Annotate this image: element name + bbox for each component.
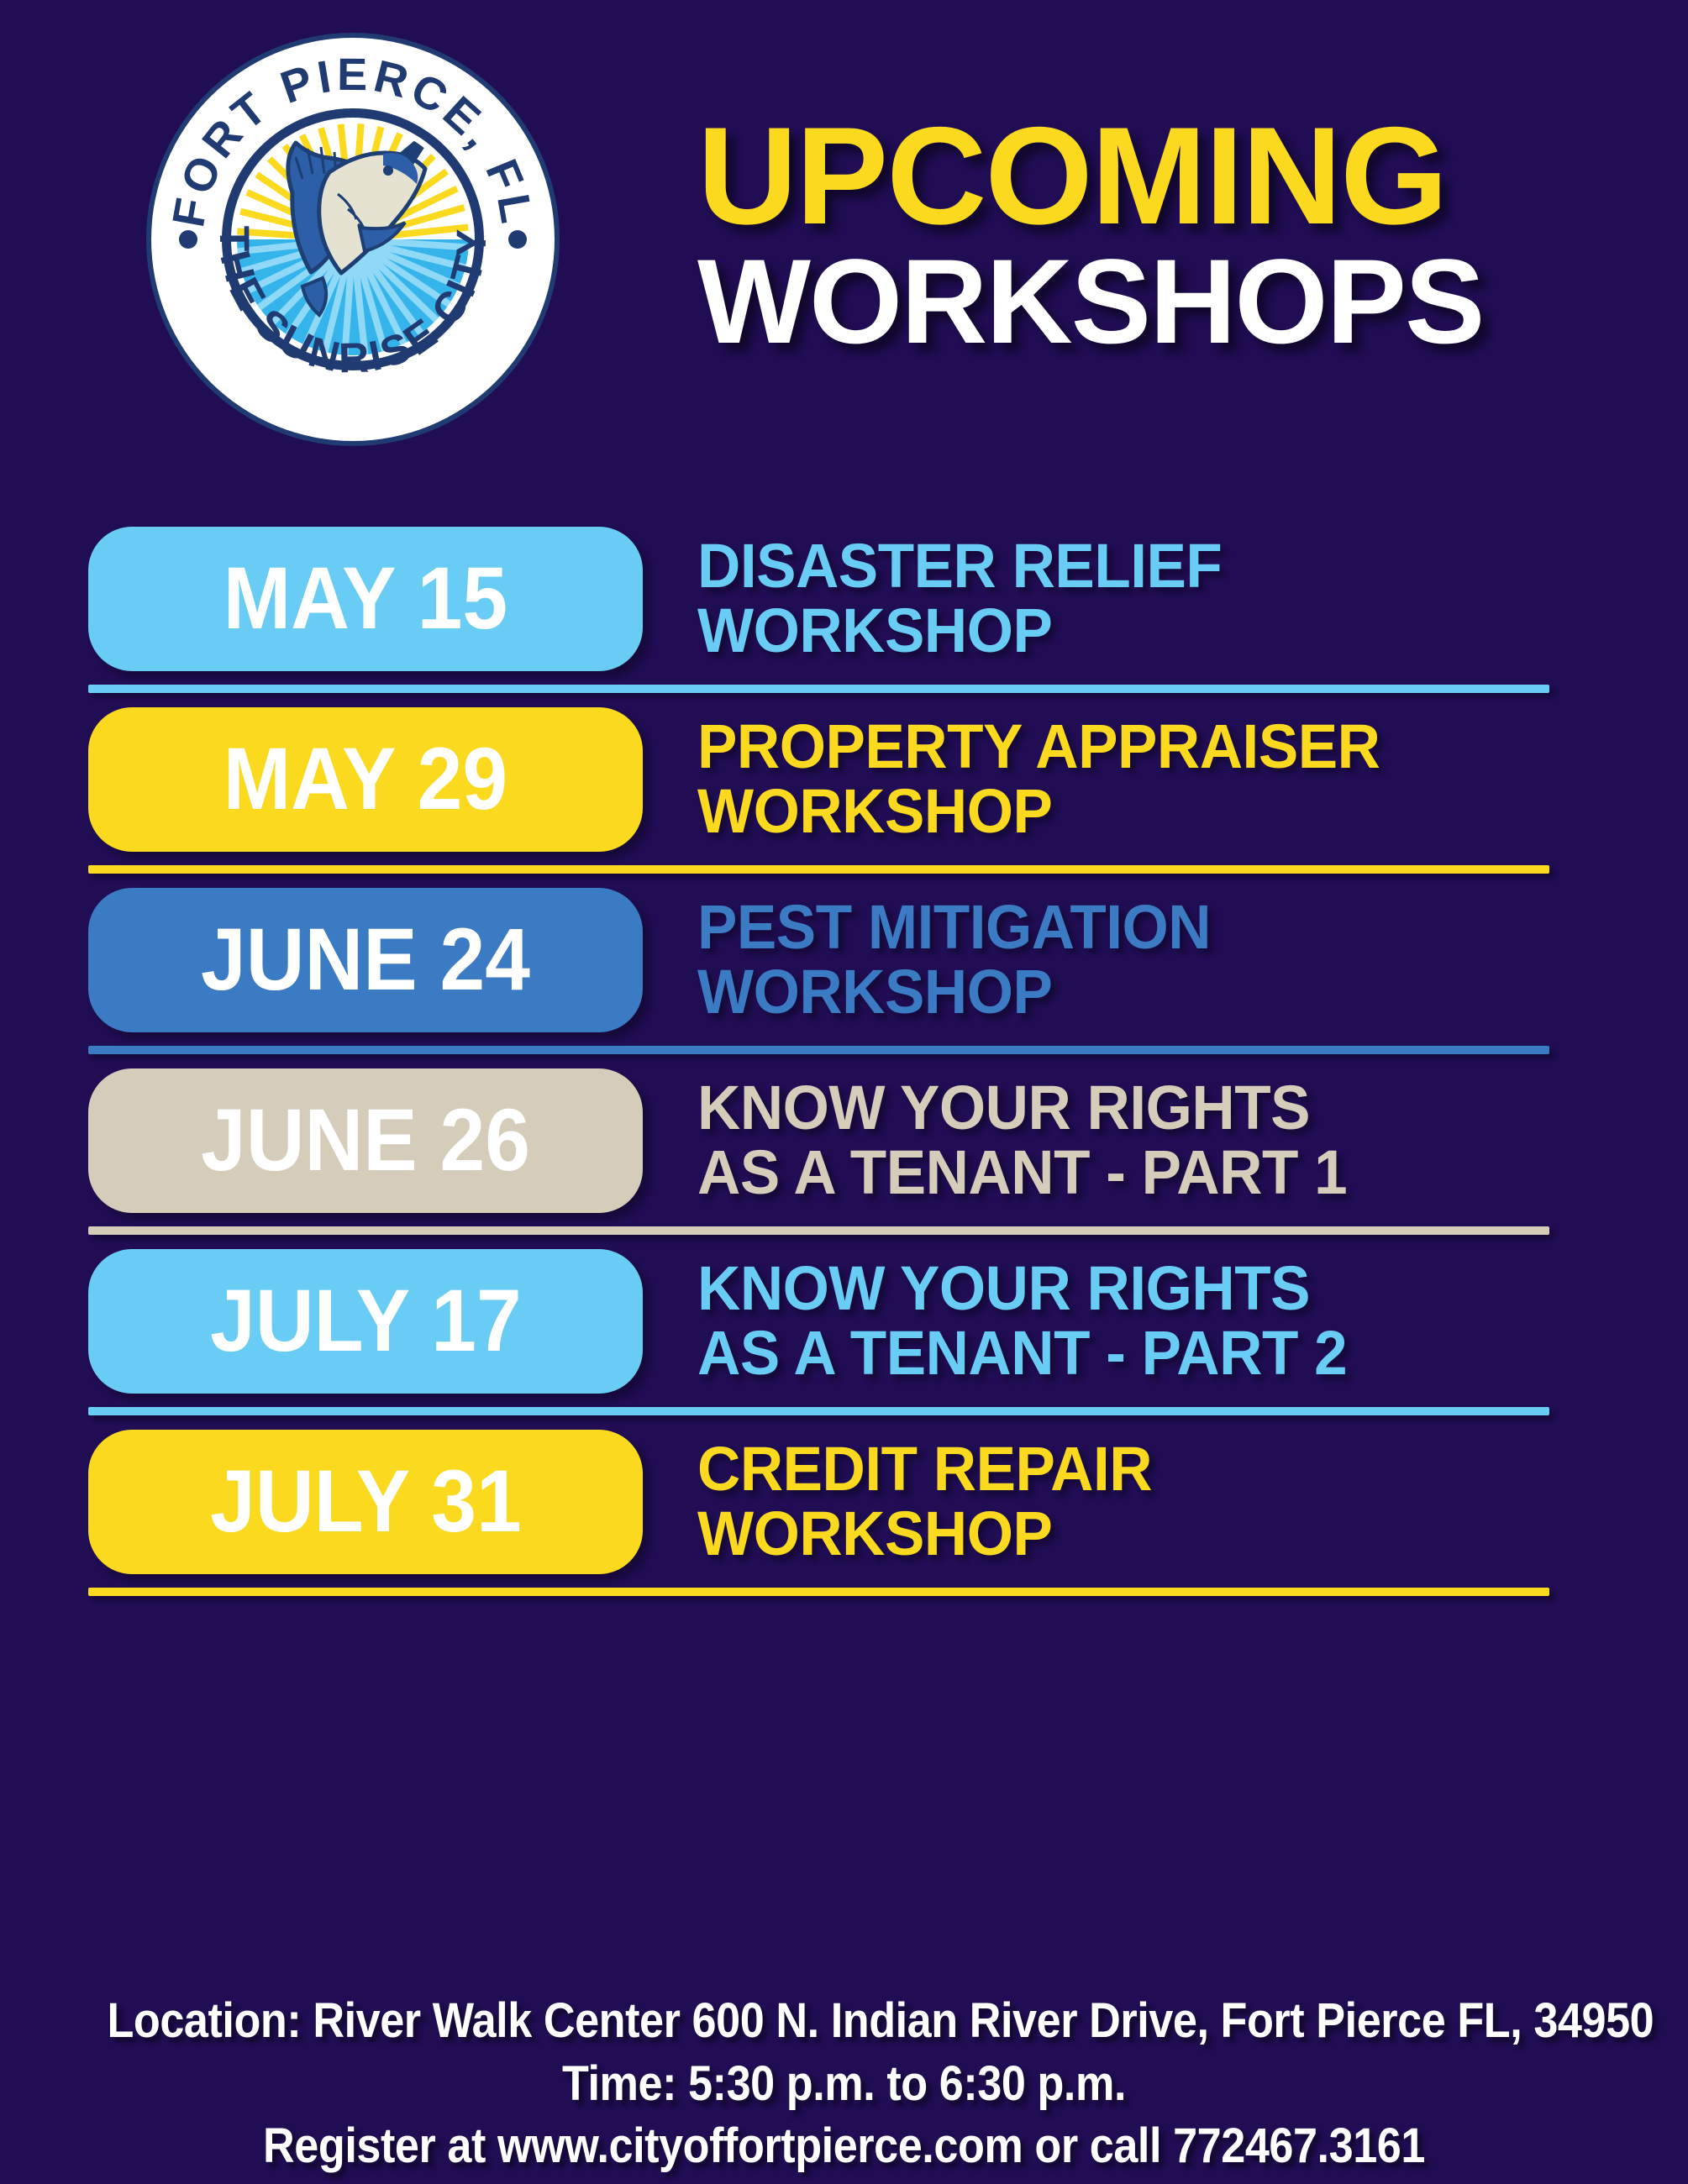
footer-info: Location: River Walk Center 600 N. India…	[0, 1990, 1688, 2177]
row-divider	[88, 1407, 1549, 1415]
workshop-title: PROPERTY APPRAISER WORKSHOP	[697, 715, 1588, 844]
workshop-title-line2: WORKSHOP	[697, 780, 1588, 844]
workshop-list: MAY 15 DISASTER RELIEF WORKSHOP MAY 29 P…	[0, 512, 1688, 1596]
workshop-title-line2: WORKSHOP	[697, 599, 1588, 664]
workshop-title: PEST MITIGATION WORKSHOP	[697, 895, 1588, 1025]
city-seal-logo: FORT PIERCE, FL THE SUNRISE CITY	[143, 29, 563, 449]
workshop-title-line1: KNOW YOUR RIGHTS	[697, 1076, 1588, 1141]
date-pill: JULY 17	[88, 1249, 643, 1394]
row-divider	[88, 1588, 1549, 1596]
title-line-workshops: WORKSHOPS	[697, 242, 1622, 362]
workshop-row[interactable]: JUNE 26 KNOW YOUR RIGHTS AS A TENANT - P…	[0, 1054, 1688, 1226]
workshop-title-line1: DISASTER RELIEF	[697, 534, 1588, 599]
workshop-title-line2: WORKSHOP	[697, 1502, 1588, 1567]
workshop-title: CREDIT REPAIR WORKSHOP	[697, 1437, 1588, 1567]
date-label: MAY 15	[223, 554, 507, 643]
footer-location: Location: River Walk Center 600 N. India…	[107, 1990, 1580, 2052]
workshop-row[interactable]: JUNE 24 PEST MITIGATION WORKSHOP	[0, 874, 1688, 1046]
workshop-title-line2: AS A TENANT - PART 2	[697, 1321, 1588, 1386]
workshop-title: KNOW YOUR RIGHTS AS A TENANT - PART 2	[697, 1257, 1588, 1386]
date-label: JULY 17	[210, 1277, 522, 1365]
workshop-row[interactable]: MAY 29 PROPERTY APPRAISER WORKSHOP	[0, 693, 1688, 865]
date-pill: JULY 31	[88, 1430, 643, 1574]
workshop-title: DISASTER RELIEF WORKSHOP	[697, 534, 1588, 664]
footer-time: Time: 5:30 p.m. to 6:30 p.m.	[107, 2053, 1580, 2115]
row-divider	[88, 1226, 1549, 1235]
row-divider	[88, 865, 1549, 874]
page-title: UPCOMING WORKSHOPS	[697, 109, 1622, 362]
workshop-row[interactable]: JULY 17 KNOW YOUR RIGHTS AS A TENANT - P…	[0, 1235, 1688, 1407]
workshop-title-line1: PROPERTY APPRAISER	[697, 715, 1588, 780]
footer-register: Register at www.cityoffortpierce.com or …	[107, 2115, 1580, 2177]
flyer-canvas: FORT PIERCE, FL THE SUNRISE CITY UPCOMIN…	[0, 0, 1688, 2184]
row-divider	[88, 1046, 1549, 1054]
header: FORT PIERCE, FL THE SUNRISE CITY UPCOMIN…	[0, 0, 1688, 504]
workshop-title-line1: PEST MITIGATION	[697, 895, 1588, 960]
date-pill: MAY 29	[88, 707, 643, 852]
workshop-title-line1: KNOW YOUR RIGHTS	[697, 1257, 1588, 1321]
date-pill: JUNE 26	[88, 1068, 643, 1213]
workshop-row[interactable]: MAY 15 DISASTER RELIEF WORKSHOP	[0, 512, 1688, 685]
date-label: JUNE 24	[201, 916, 530, 1004]
workshop-title-line1: CREDIT REPAIR	[697, 1437, 1588, 1502]
title-line-upcoming: UPCOMING	[697, 109, 1622, 242]
date-pill: MAY 15	[88, 527, 643, 671]
date-pill: JUNE 24	[88, 888, 643, 1032]
row-divider	[88, 685, 1549, 693]
workshop-title-line2: AS A TENANT - PART 1	[697, 1141, 1588, 1205]
date-label: JUNE 26	[201, 1096, 530, 1184]
date-label: JULY 31	[210, 1457, 522, 1546]
date-label: MAY 29	[223, 735, 507, 823]
workshop-row[interactable]: JULY 31 CREDIT REPAIR WORKSHOP	[0, 1415, 1688, 1588]
workshop-title: KNOW YOUR RIGHTS AS A TENANT - PART 1	[697, 1076, 1588, 1205]
workshop-title-line2: WORKSHOP	[697, 960, 1588, 1025]
